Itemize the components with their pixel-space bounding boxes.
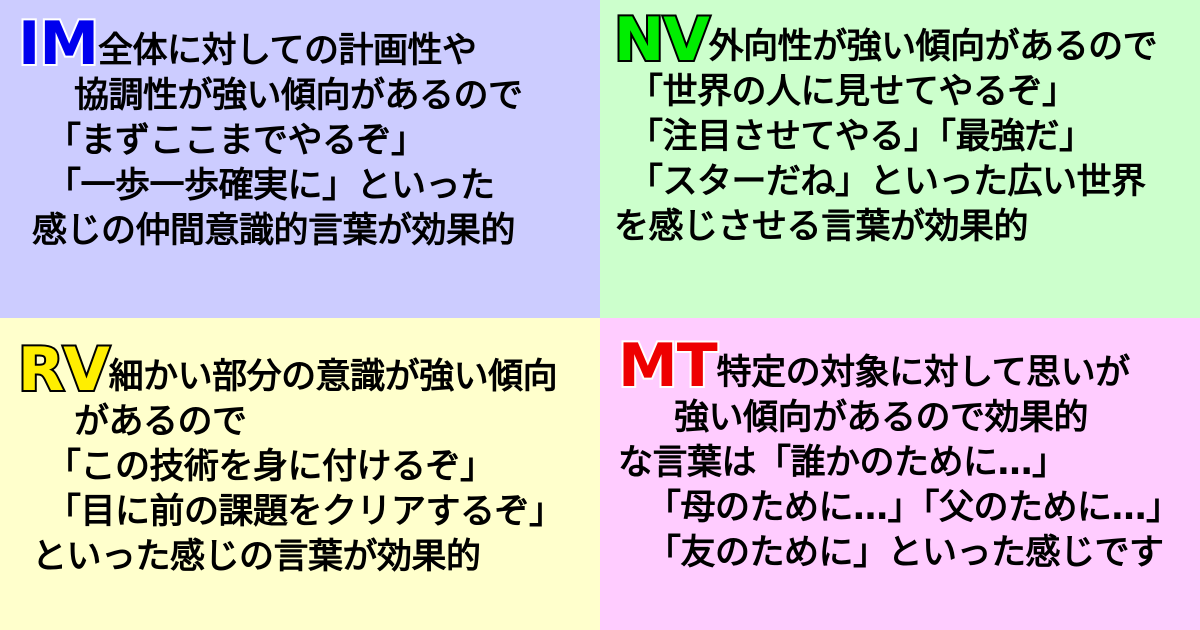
four-type-panel-board: IM全体に対しての計画性や 協調性が強い傾向があるので 「まずここまでやるぞ」 …	[0, 0, 1200, 630]
type-code-im: IM	[18, 14, 98, 74]
quadrant-mt-line-4: 「友のために」といった感じです	[618, 531, 1200, 576]
quadrant-im-line-1: 協調性が強い傾向があるので	[18, 74, 600, 119]
quadrant-mt-line-1: 強い傾向があるので効果的	[618, 396, 1200, 441]
quadrant-mt-head-text: 特定の対象に対して思いが	[717, 351, 1130, 396]
quadrant-im-line-2: 「まずここまでやるぞ」	[18, 119, 600, 164]
quadrant-im: IM全体に対しての計画性や 協調性が強い傾向があるので 「まずここまでやるぞ」 …	[0, 0, 600, 318]
quadrant-nv-headline: NV外向性が強い傾向があるので	[614, 10, 1200, 70]
quadrant-nv-line-2: 「注目させてやる」「最強だ」	[614, 115, 1200, 160]
quadrant-rv-text-block: RV細かい部分の意識が強い傾向 があるので 「この技術を身に付けるぞ」 「目に前…	[0, 318, 600, 580]
quadrant-mt-line-2: な言葉は「誰かのために…」	[618, 441, 1200, 486]
quadrant-nv-line-3: 「スターだね」といった広い世界	[614, 160, 1200, 205]
quadrant-nv-line-1: 「世界の人に見せてやるぞ」	[614, 70, 1200, 115]
quadrant-rv-head-text: 細かい部分の意識が強い傾向	[109, 355, 558, 400]
quadrant-rv-line-4: といった感じの言葉が効果的	[18, 535, 600, 580]
type-code-nv: NV	[614, 10, 709, 70]
quadrant-im-line-3: 「一歩一歩確実に」といった	[18, 164, 600, 209]
quadrant-mt-headline: MT特定の対象に対して思いが	[618, 336, 1200, 396]
quadrant-im-text-block: IM全体に対しての計画性や 協調性が強い傾向があるので 「まずここまでやるぞ」 …	[0, 0, 600, 254]
quadrant-mt: MT特定の対象に対して思いが 強い傾向があるので効果的 な言葉は「誰かのために……	[600, 318, 1200, 630]
quadrant-rv-line-3: 「目に前の課題をクリアするぞ」	[18, 490, 600, 535]
quadrant-nv: NV外向性が強い傾向があるので 「世界の人に見せてやるぞ」 「注目させてやる」「…	[600, 0, 1200, 318]
quadrant-nv-line-4: を感じさせる言葉が効果的	[614, 205, 1200, 250]
quadrant-mt-text-block: MT特定の対象に対して思いが 強い傾向があるので効果的 な言葉は「誰かのために……	[600, 318, 1200, 576]
quadrant-im-line-4: 感じの仲間意識的言葉が効果的	[18, 209, 600, 254]
quadrant-rv: RV細かい部分の意識が強い傾向 があるので 「この技術を身に付けるぞ」 「目に前…	[0, 318, 600, 630]
quadrant-rv-line-1: があるので	[18, 400, 600, 445]
quadrant-nv-head-text: 外向性が強い傾向があるので	[709, 25, 1158, 70]
quadrant-im-head-text: 全体に対しての計画性や	[98, 29, 476, 74]
quadrant-mt-line-3: 「母のために…」「父のために…」	[618, 486, 1200, 531]
quadrant-im-headline: IM全体に対しての計画性や	[18, 14, 600, 74]
quadrant-rv-line-2: 「この技術を身に付けるぞ」	[18, 445, 600, 490]
quadrant-rv-headline: RV細かい部分の意識が強い傾向	[18, 340, 600, 400]
type-code-rv: RV	[18, 340, 109, 400]
quadrant-nv-text-block: NV外向性が強い傾向があるので 「世界の人に見せてやるぞ」 「注目させてやる」「…	[600, 0, 1200, 250]
type-code-mt: MT	[618, 336, 717, 396]
